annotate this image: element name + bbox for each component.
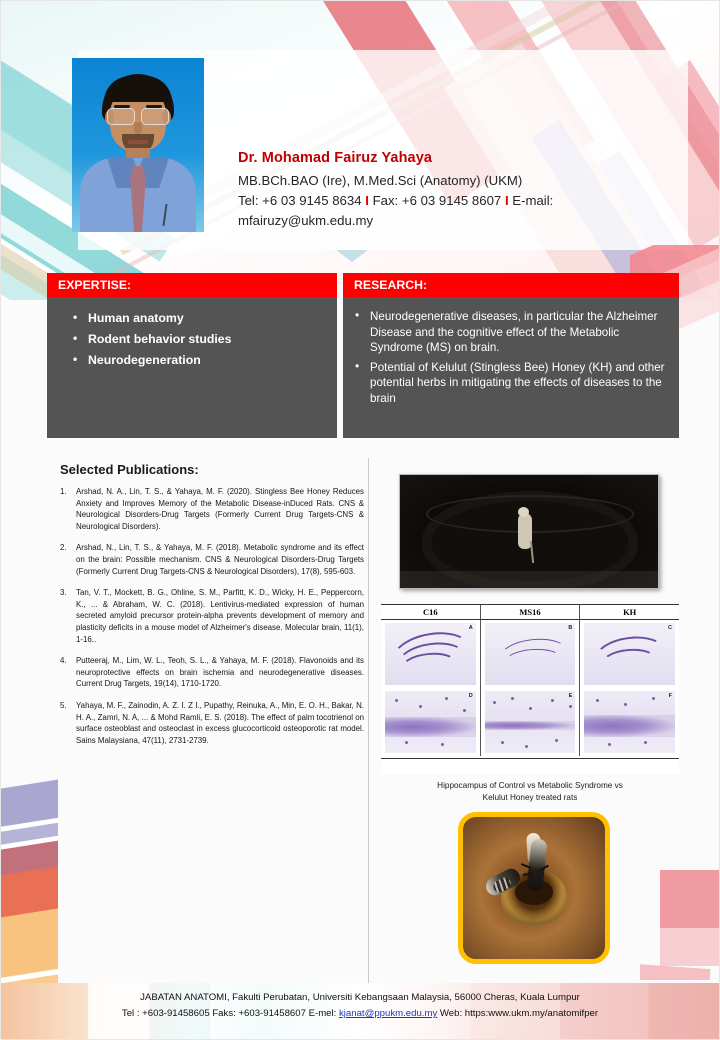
- publication-text: Tan, V. T., Mockett, B. G., Ohline, S. M…: [76, 587, 364, 645]
- email-label: E-mail:: [512, 193, 553, 208]
- list-item: 1. Arshad, N. A., Lin, T. S., & Yahaya, …: [58, 486, 364, 532]
- list-item: Human anatomy: [73, 309, 325, 327]
- publications-heading: Selected Publications:: [60, 462, 199, 477]
- histology-cell: D: [381, 688, 480, 756]
- footer-email-link[interactable]: kjanat@ppukm.edu.my: [339, 1008, 437, 1019]
- publication-number: 5.: [58, 700, 76, 746]
- publication-text: Arshad, N., Lin, T. S., & Yahaya, M. F. …: [76, 542, 364, 577]
- histology-cell: B: [480, 620, 580, 688]
- tel-text: Tel: +6 03 9145 8634: [238, 193, 362, 208]
- bottom-right-decor: [640, 860, 720, 980]
- panel-label: D: [469, 693, 473, 699]
- caption-line-2: Kelulut Honey treated rats: [483, 793, 578, 802]
- publication-number: 1.: [58, 486, 76, 532]
- footer-contact-pre: Tel : +603-91458605 Faks: +603-91458607 …: [122, 1008, 339, 1019]
- footer: JABATAN ANATOMI, Fakulti Perubatan, Univ…: [0, 990, 720, 1022]
- expertise-heading: EXPERTISE:: [47, 273, 337, 297]
- panel-label: B: [568, 625, 572, 631]
- eyeglasses-shape: [107, 108, 169, 123]
- histology-cell: F: [579, 688, 679, 756]
- histology-column-header: KH: [579, 605, 679, 619]
- histology-cell: E: [480, 688, 580, 756]
- stingless-bee-photo: [458, 812, 610, 964]
- list-item: Neurodegenerative diseases, in particula…: [355, 309, 667, 356]
- footer-line-1: JABATAN ANATOMI, Fakulti Perubatan, Univ…: [0, 990, 720, 1006]
- panel-label: C: [668, 625, 672, 631]
- publication-text: Putteeraj, M., Lim, W. L., Teoh, S. L., …: [76, 655, 364, 690]
- expertise-body: Human anatomy Rodent behavior studies Ne…: [47, 297, 337, 438]
- qualifications-line: MB.BCh.BAO (Ire), M.Med.Sci (Anatomy) (U…: [238, 171, 638, 191]
- histology-row-bottom: D E: [381, 688, 679, 756]
- list-item: Potential of Kelulut (Stingless Bee) Hon…: [355, 360, 667, 407]
- panel-label: E: [569, 693, 573, 699]
- histology-cell: A: [381, 620, 480, 688]
- list-item: Rodent behavior studies: [73, 330, 325, 348]
- histology-caption: Hippocampus of Control vs Metabolic Synd…: [381, 780, 679, 804]
- column-divider: [368, 458, 369, 1000]
- histology-cell: C: [579, 620, 679, 688]
- research-list: Neurodegenerative diseases, in particula…: [355, 309, 667, 407]
- research-heading: RESEARCH:: [343, 273, 679, 297]
- histology-header-row: C16 MS16 KH: [381, 604, 679, 620]
- publication-text: Yahaya, M. F., Zainodin, A. Z. I. Z I., …: [76, 700, 364, 746]
- footer-contact-post: Web: https:www.ukm.my/anatomifper: [437, 1008, 598, 1019]
- histology-row-top: A B C: [381, 620, 679, 688]
- fax-text: Fax: +6 03 9145 8607: [373, 193, 502, 208]
- expertise-column: EXPERTISE: Human anatomy Rodent behavior…: [47, 273, 337, 438]
- list-item: 5. Yahaya, M. F., Zainodin, A. Z. I. Z I…: [58, 700, 364, 746]
- avatar: [72, 58, 204, 232]
- page-title: Dr. Mohamad Fairuz Yahaya: [238, 150, 638, 166]
- hero-notch-decor: [336, 250, 368, 262]
- expertise-research-panel: EXPERTISE: Human anatomy Rodent behavior…: [47, 273, 679, 438]
- caption-line-1: Hippocampus of Control vs Metabolic Synd…: [437, 781, 623, 790]
- panel-label: A: [469, 625, 473, 631]
- publication-number: 3.: [58, 587, 76, 645]
- separator-1: I: [365, 193, 369, 208]
- contact-line: Tel: +6 03 9145 8634 I Fax: +6 03 9145 8…: [238, 191, 638, 211]
- list-item: 3. Tan, V. T., Mockett, B. G., Ohline, S…: [58, 587, 364, 645]
- research-body: Neurodegenerative diseases, in particula…: [343, 297, 679, 438]
- expertise-list: Human anatomy Rodent behavior studies Ne…: [73, 309, 325, 369]
- list-item: 2. Arshad, N., Lin, T. S., & Yahaya, M. …: [58, 542, 364, 577]
- footer-line-2: Tel : +603-91458605 Faks: +603-91458607 …: [0, 1006, 720, 1022]
- publications-list: 1. Arshad, N. A., Lin, T. S., & Yahaya, …: [58, 486, 364, 756]
- separator-2: I: [505, 193, 509, 208]
- email-address[interactable]: mfairuzy@ukm.edu.my: [238, 211, 638, 231]
- histology-figure: C16 MS16 KH A B: [381, 604, 679, 774]
- poster-page: Dr. Mohamad Fairuz Yahaya MB.BCh.BAO (Ir…: [0, 0, 720, 1040]
- histology-column-header: C16: [381, 605, 480, 619]
- research-column: RESEARCH: Neurodegenerative diseases, in…: [343, 273, 679, 438]
- panel-label: F: [669, 693, 672, 699]
- publication-text: Arshad, N. A., Lin, T. S., & Yahaya, M. …: [76, 486, 364, 532]
- person-details: Dr. Mohamad Fairuz Yahaya MB.BCh.BAO (Ir…: [238, 150, 638, 231]
- histology-column-header: MS16: [480, 605, 580, 619]
- publication-number: 2.: [58, 542, 76, 577]
- publication-number: 4.: [58, 655, 76, 690]
- list-item: Neurodegeneration: [73, 351, 325, 369]
- rat-arena-photo: [399, 474, 659, 589]
- list-item: 4. Putteeraj, M., Lim, W. L., Teoh, S. L…: [58, 655, 364, 690]
